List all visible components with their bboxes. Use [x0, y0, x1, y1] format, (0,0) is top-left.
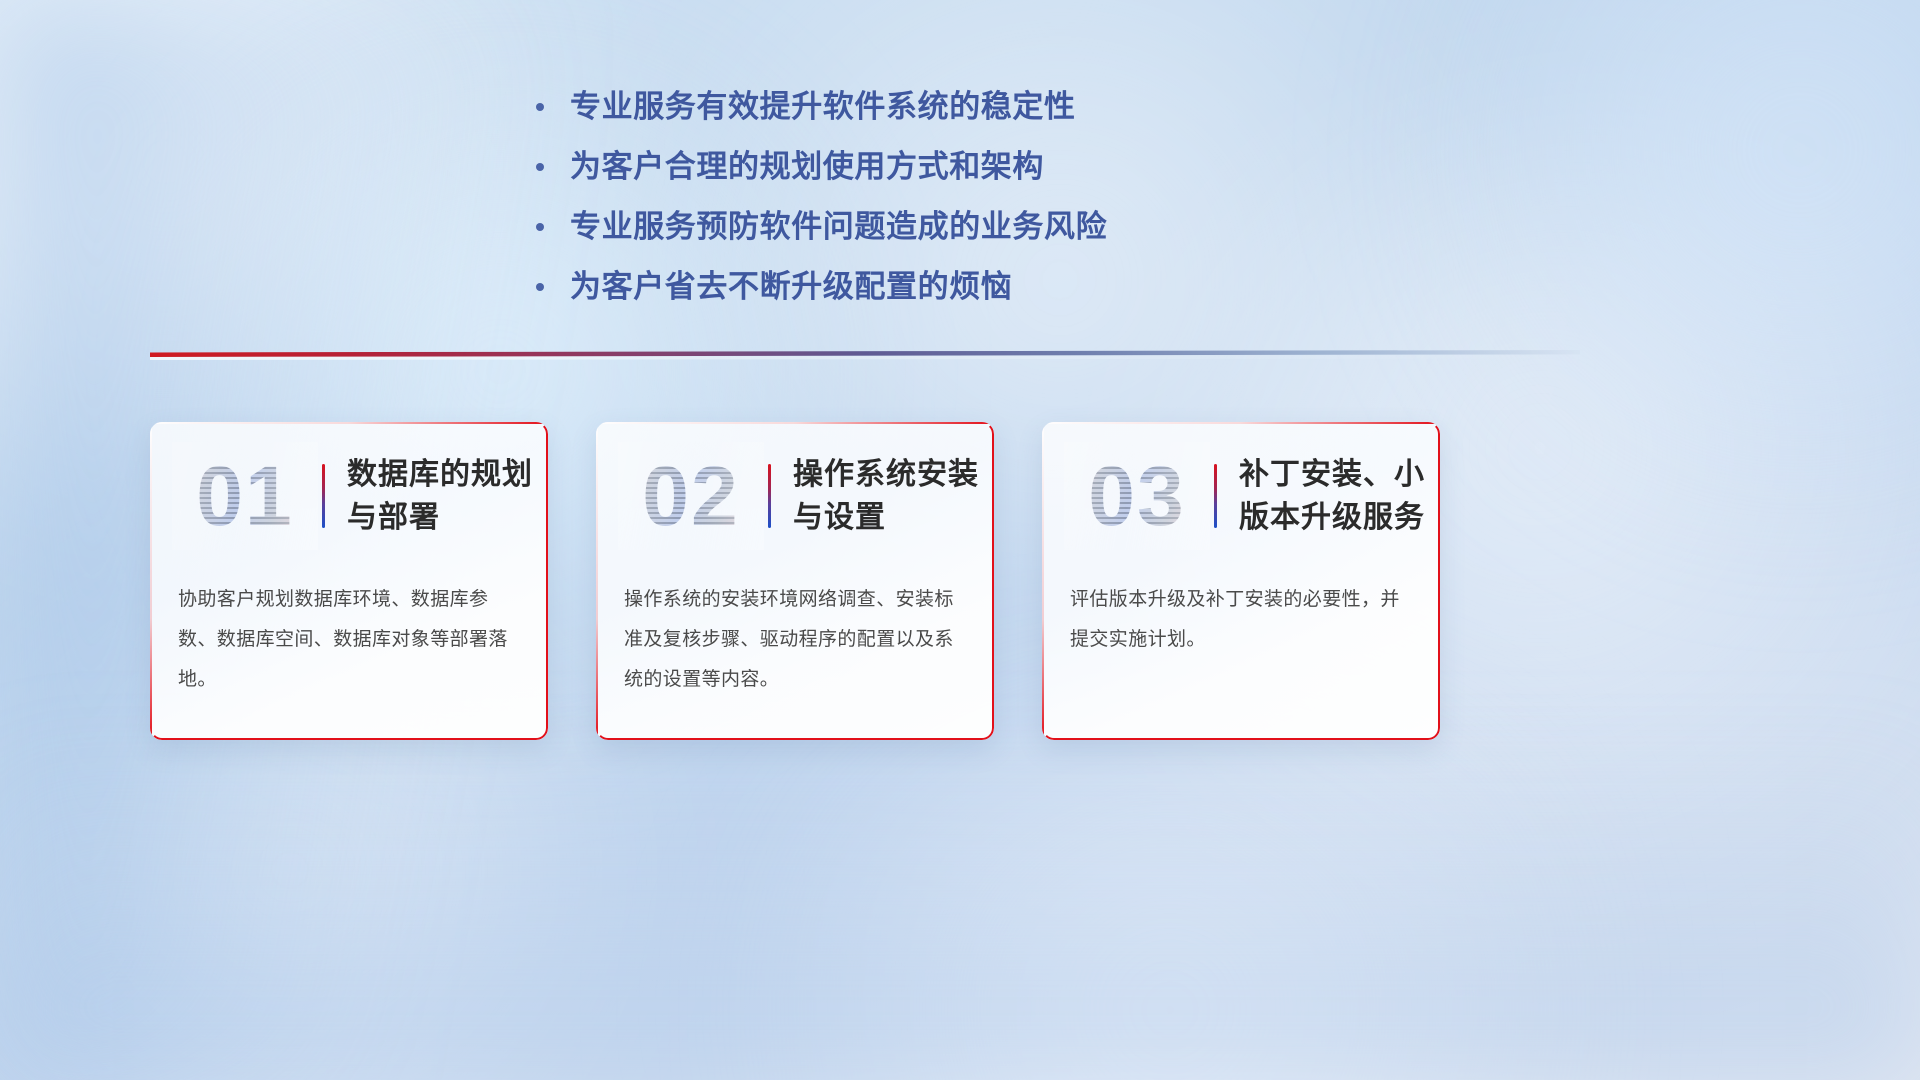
card-title: 操作系统安装与设置	[793, 453, 994, 539]
card-01[interactable]: 01 数据库的规划与部署 协助客户规划数据库环境、数据库参数、数据库空间、数据库…	[150, 422, 548, 740]
card-title: 补丁安装、小版本升级服务	[1239, 453, 1440, 539]
card-top-edge	[150, 422, 548, 424]
list-item: 专业服务有效提升软件系统的稳定性	[536, 88, 1296, 126]
card-body-text: 评估版本升级及补丁安装的必要性，并提交实施计划。	[1070, 580, 1414, 660]
card-header: 03 补丁安装、小版本升级服务	[1042, 436, 1440, 556]
card-number: 02	[618, 442, 764, 550]
bullet-text: 专业服务预防软件问题造成的业务风险	[570, 208, 1107, 246]
card-body-text: 操作系统的安装环境网络调查、安装标准及复核步骤、驱动程序的配置以及系统的设置等内…	[624, 580, 968, 700]
bullet-text: 专业服务有效提升软件系统的稳定性	[570, 88, 1076, 126]
card-03[interactable]: 03 补丁安装、小版本升级服务 评估版本升级及补丁安装的必要性，并提交实施计划。	[1042, 422, 1440, 740]
bullet-text: 为客户省去不断升级配置的烦恼	[570, 268, 1012, 306]
bullet-dot-icon	[536, 163, 544, 171]
bullet-dot-icon	[536, 223, 544, 231]
card-header: 01 数据库的规划与部署	[150, 436, 548, 556]
card-body-text: 协助客户规划数据库环境、数据库参数、数据库空间、数据库对象等部署落地。	[178, 580, 522, 700]
card-header: 02 操作系统安装与设置	[596, 436, 994, 556]
bullet-list: 专业服务有效提升软件系统的稳定性 为客户合理的规划使用方式和架构 专业服务预防软…	[536, 88, 1296, 306]
card-divider-bar	[322, 464, 325, 528]
background-tint-bottom	[0, 740, 1920, 1080]
card-top-edge	[1042, 422, 1440, 424]
card-top-edge	[596, 422, 994, 424]
card-divider-bar	[768, 464, 771, 528]
bullet-text: 为客户合理的规划使用方式和架构	[570, 148, 1044, 186]
list-item: 为客户省去不断升级配置的烦恼	[536, 268, 1296, 306]
list-item: 专业服务预防软件问题造成的业务风险	[536, 208, 1296, 246]
card-row: 01 数据库的规划与部署 协助客户规划数据库环境、数据库参数、数据库空间、数据库…	[150, 422, 1580, 742]
card-02[interactable]: 02 操作系统安装与设置 操作系统的安装环境网络调查、安装标准及复核步骤、驱动程…	[596, 422, 994, 740]
bullet-dot-icon	[536, 283, 544, 291]
card-divider-bar	[1214, 464, 1217, 528]
card-title: 数据库的规划与部署	[347, 453, 548, 539]
card-number: 01	[172, 442, 318, 550]
bullet-dot-icon	[536, 103, 544, 111]
card-number: 03	[1064, 442, 1210, 550]
list-item: 为客户合理的规划使用方式和架构	[536, 148, 1296, 186]
section-divider	[150, 350, 1580, 360]
